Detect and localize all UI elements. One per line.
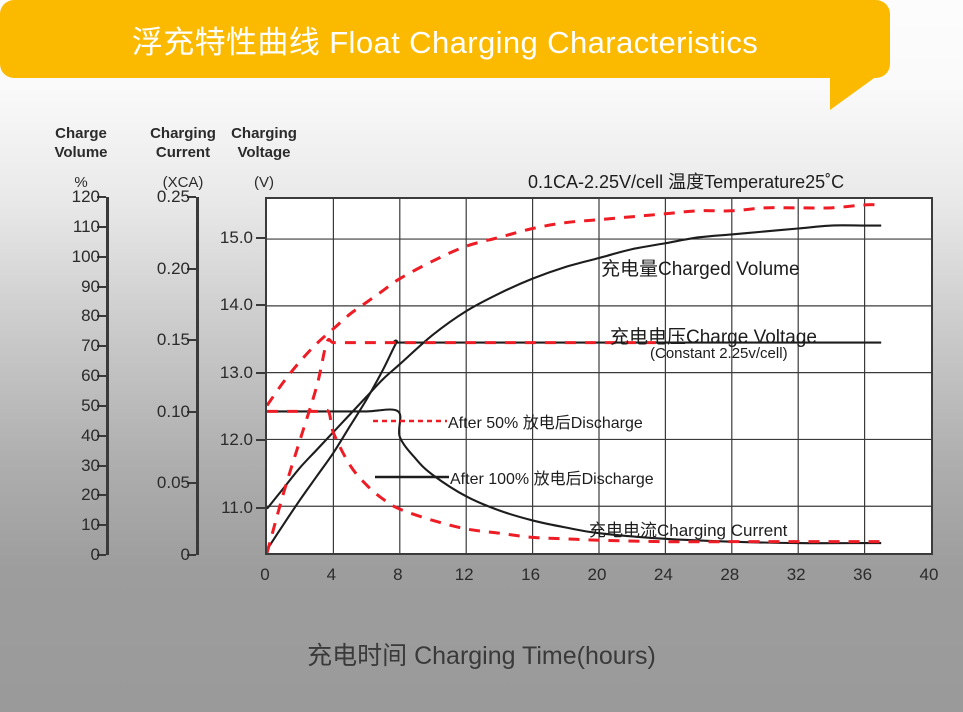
axis-tick-label: 20 [30, 486, 100, 503]
axis-tick-label: 0.25 [120, 188, 190, 205]
axis-tick-label: 0 [120, 546, 190, 563]
curve-2 [267, 341, 881, 550]
axis-tick-label: 0.10 [120, 403, 190, 420]
gridlines [267, 199, 931, 553]
axis-tick-label: 15.0 [183, 229, 253, 246]
axis-tick-label: 0 [30, 546, 100, 563]
axis-header-charge-volume: Charge Volume [35, 124, 127, 162]
axis-unit-volt: (V) [214, 174, 314, 191]
title-banner: 浮充特性曲线 Float Charging Characteristics [0, 0, 963, 88]
x-tick-label: 32 [776, 565, 816, 585]
axis-tick-label: 10 [30, 516, 100, 533]
axis-tick-label: 13.0 [183, 364, 253, 381]
conditions-note: 0.1CA-2.25V/cell 温度Temperature25˚C [528, 168, 844, 194]
axis-tick-label: 90 [30, 278, 100, 295]
x-tick-label: 16 [511, 565, 551, 585]
legend-label-50: After 50% 放电后Discharge [448, 409, 643, 433]
charge-volume-axis-line [106, 197, 109, 555]
x-tick-label: 12 [444, 565, 484, 585]
axis-header-charging-voltage: Charging Voltage [214, 124, 314, 162]
plot-area: 充电量Charged Volume 充电电压Charge Voltage (Co… [265, 197, 933, 555]
x-tick-label: 0 [245, 565, 285, 585]
x-tick-label: 28 [710, 565, 750, 585]
chart-svg [267, 199, 931, 553]
legend-label-100: After 100% 放电后Discharge [450, 465, 654, 489]
axis-tick-label: 70 [30, 337, 100, 354]
curve-1 [267, 205, 881, 406]
x-tick-label: 8 [378, 565, 418, 585]
x-tick-label: 36 [843, 565, 883, 585]
axis-tick-label: 30 [30, 457, 100, 474]
axis-tick-label: 60 [30, 367, 100, 384]
page-title: 浮充特性曲线 Float Charging Characteristics [0, 0, 890, 78]
x-tick-label: 20 [577, 565, 617, 585]
axis-tick-label: 110 [30, 218, 100, 235]
x-tick-label: 4 [311, 565, 351, 585]
axis-tick-label: 14.0 [183, 296, 253, 313]
x-tick-label: 40 [909, 565, 949, 585]
annotation-charging-current: 充电电流Charging Current [589, 516, 787, 541]
x-axis-title: 充电时间 Charging Time(hours) [0, 636, 963, 672]
axis-tick-label: 0.20 [120, 260, 190, 277]
axis-tick-label: 40 [30, 427, 100, 444]
axis-tick-label: 11.0 [183, 499, 253, 516]
axis-tick-label: 12.0 [183, 431, 253, 448]
x-tick-label: 24 [643, 565, 683, 585]
axis-tick [256, 304, 265, 306]
axis-tick [256, 439, 265, 441]
axis-tick [256, 507, 265, 509]
axis-tick-label: 0.15 [120, 331, 190, 348]
axis-tick [256, 237, 265, 239]
annotation-charge-voltage-sub: (Constant 2.25v/cell) [650, 345, 788, 362]
axis-tick [256, 372, 265, 374]
axis-tick-label: 0.05 [120, 474, 190, 491]
axis-tick-label: 50 [30, 397, 100, 414]
axis-tick-label: 80 [30, 307, 100, 324]
axis-tick-label: 120 [30, 188, 100, 205]
annotation-charged-volume: 充电量Charged Volume [601, 254, 800, 281]
axis-tick-label: 100 [30, 248, 100, 265]
chart-page: 浮充特性曲线 Float Charging Characteristics Ch… [0, 0, 963, 712]
